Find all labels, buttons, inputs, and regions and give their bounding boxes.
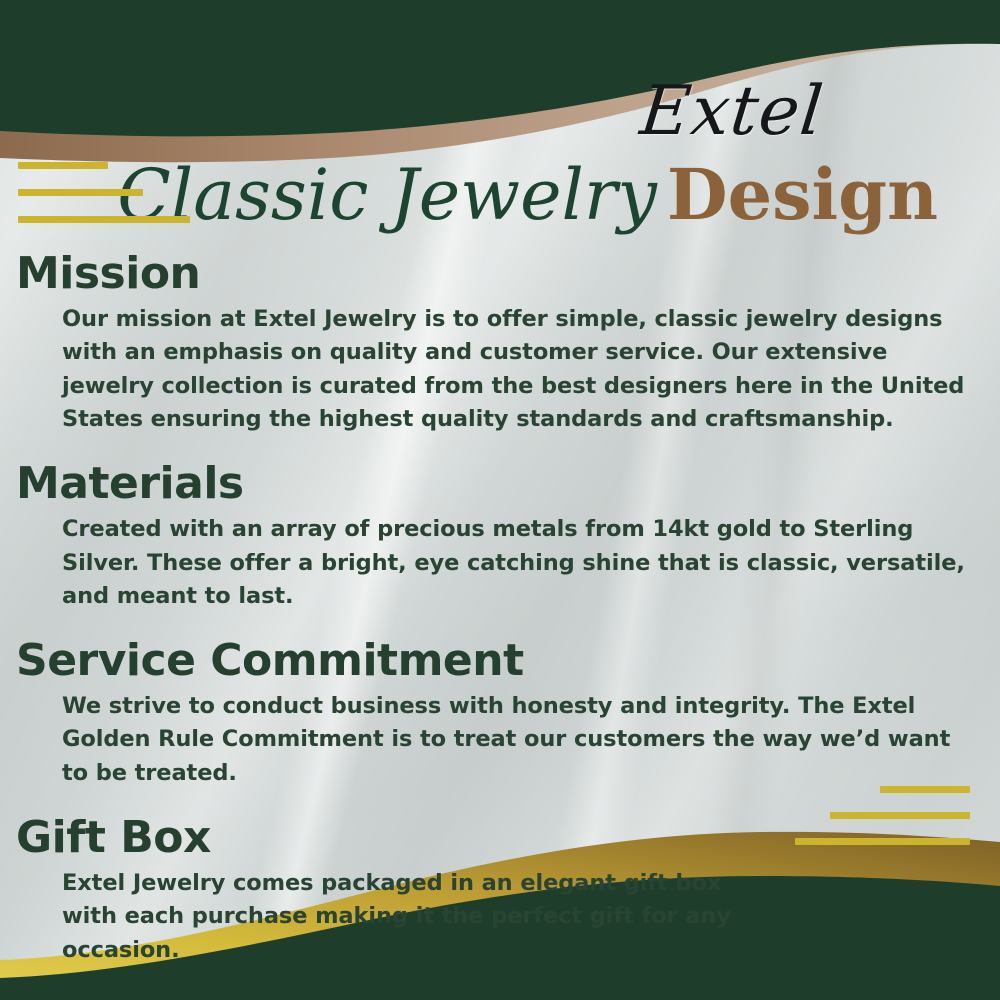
- section-body-service-commitment: We strive to conduct business with hones…: [62, 690, 970, 790]
- section-heading-service-commitment: Service Commitment: [16, 635, 1000, 686]
- section-body-mission: Our mission at Extel Jewelry is to offer…: [62, 303, 970, 436]
- accent-lines-top-left: [18, 162, 190, 223]
- title-script-part: Classic Jewelry: [117, 154, 657, 236]
- section-body-materials: Created with an array of precious metals…: [62, 513, 970, 613]
- section-gift-box: Gift Box Extel Jewelry comes packaged in…: [0, 812, 1000, 967]
- content-sections: Mission Our mission at Extel Jewelry is …: [0, 248, 1000, 967]
- accent-line: [18, 189, 143, 196]
- accent-line: [18, 216, 190, 223]
- section-service-commitment: Service Commitment We strive to conduct …: [0, 635, 1000, 790]
- section-heading-mission: Mission: [16, 248, 1000, 299]
- section-heading-gift-box: Gift Box: [16, 812, 1000, 863]
- section-heading-materials: Materials: [16, 458, 1000, 509]
- title-bold-part: Design: [667, 153, 938, 236]
- accent-line: [18, 162, 108, 169]
- section-materials: Materials Created with an array of preci…: [0, 458, 1000, 613]
- poster-canvas: Extel Classic JewelryDesign Mission Our …: [0, 0, 1000, 1000]
- brand-logo: Extel: [608, 78, 855, 146]
- section-mission: Mission Our mission at Extel Jewelry is …: [0, 248, 1000, 436]
- section-body-gift-box: Extel Jewelry comes packaged in an elega…: [62, 867, 760, 967]
